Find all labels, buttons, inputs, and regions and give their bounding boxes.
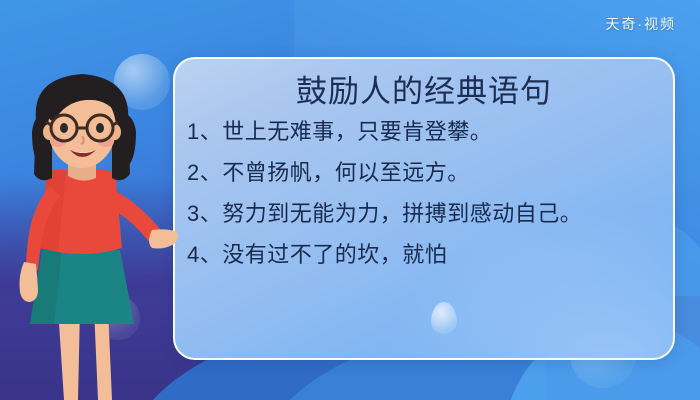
list-item: 3、努力到无能为力，拼搏到感动自己。 (187, 199, 663, 229)
pointing-hand (149, 229, 178, 248)
list-item: 2、不曾扬帆，何以至远方。 (187, 158, 663, 188)
left-hand (20, 262, 39, 302)
card-droplet-icon (431, 302, 457, 334)
list-item: 4、没有过不了的坎，就怕 (187, 240, 663, 270)
quote-list: 1、世上无难事，只要肯登攀。 2、不曾扬帆，何以至远方。 3、努力到无能为力，拼… (175, 117, 673, 270)
watermark-label: 天奇·视频 (605, 14, 676, 34)
eye-left (60, 123, 68, 133)
video-frame: 天奇·视频 鼓励人的经典语句 1、世上无难事，只要肯登攀。 2、不曾扬帆，何以至… (0, 0, 700, 400)
quote-card: 鼓励人的经典语句 1、世上无难事，只要肯登攀。 2、不曾扬帆，何以至远方。 3、… (173, 57, 675, 360)
presenter-illustration (2, 62, 178, 400)
page-title: 鼓励人的经典语句 (175, 75, 673, 109)
eye-right (96, 123, 104, 133)
list-item: 1、世上无难事，只要肯登攀。 (187, 117, 663, 147)
